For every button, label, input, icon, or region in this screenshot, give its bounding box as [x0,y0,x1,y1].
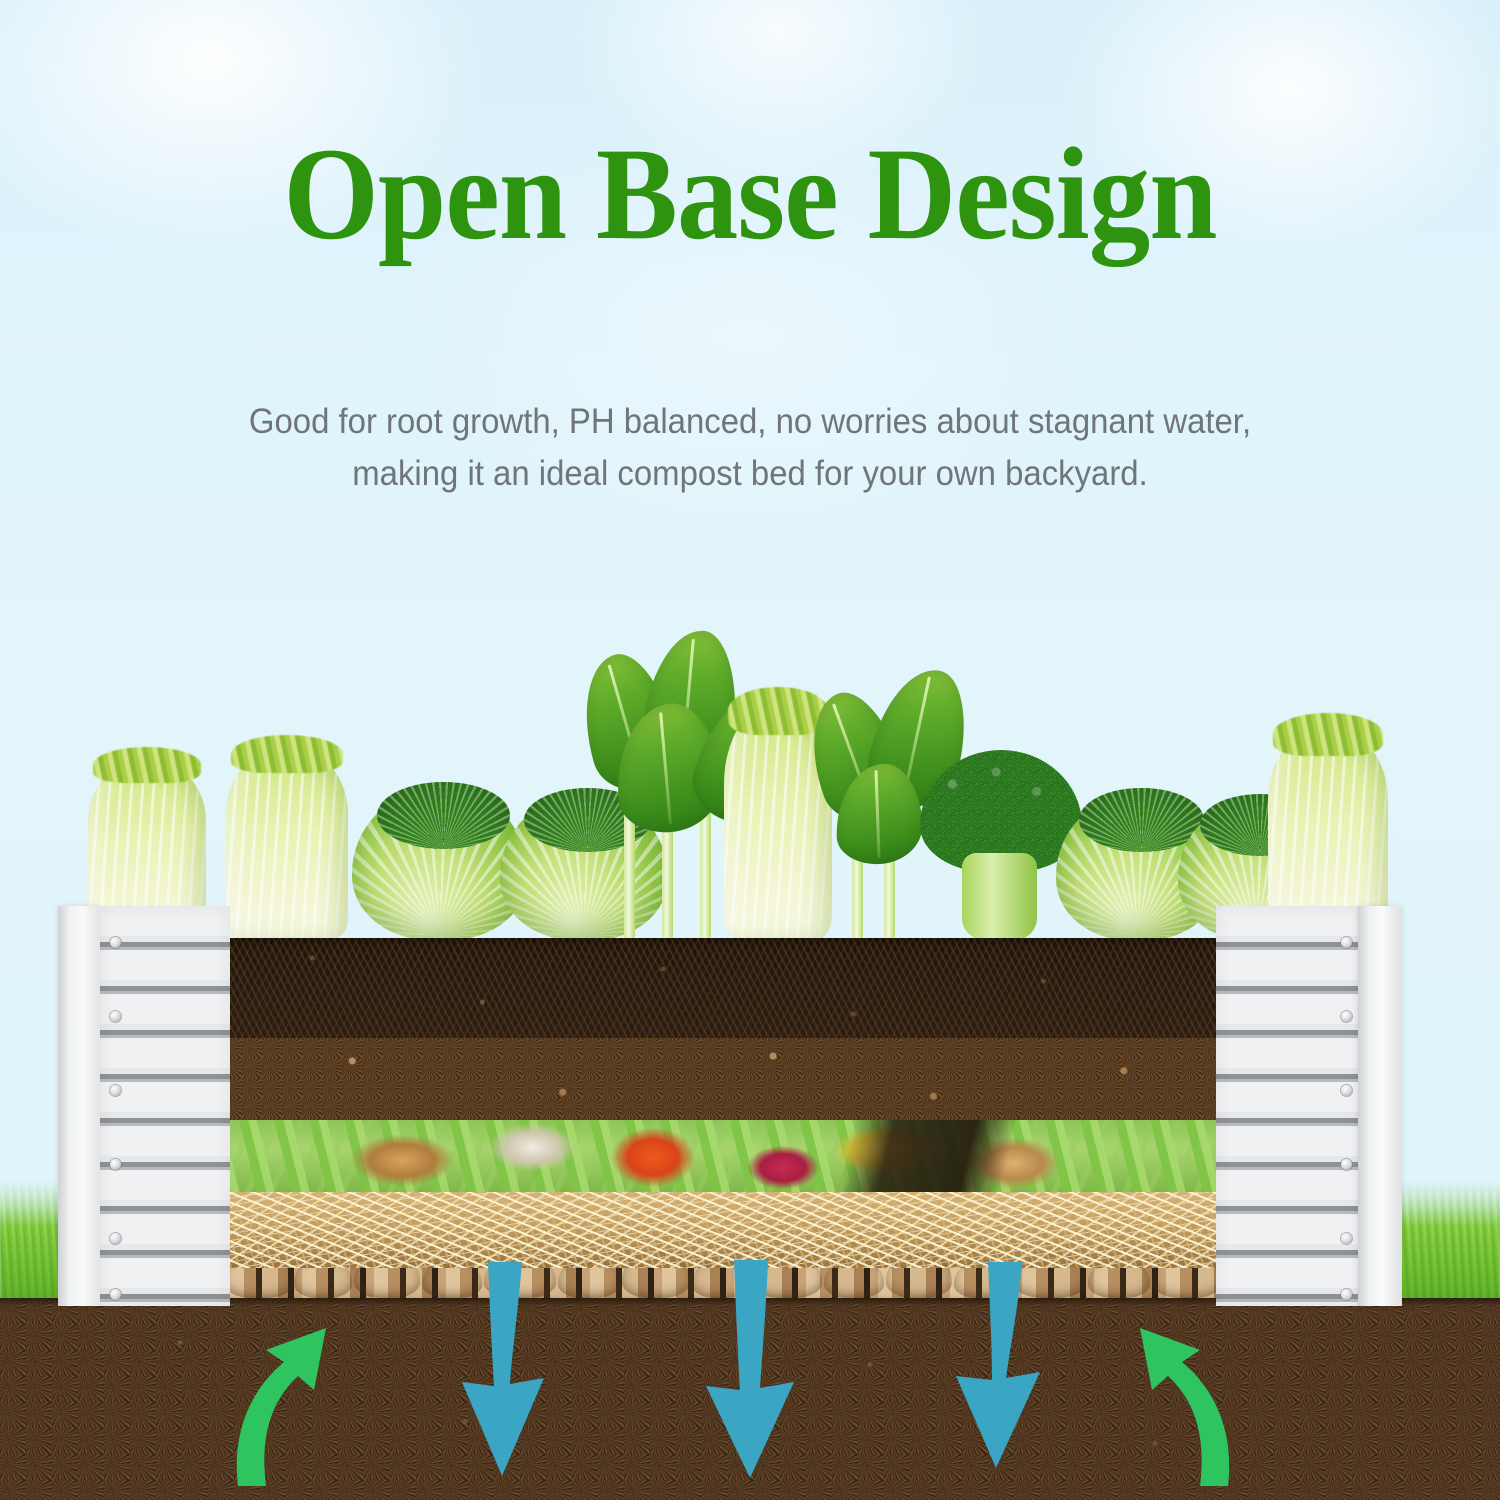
layer-dark-compost-soil [222,938,1224,1038]
panel-screw [1341,1159,1352,1170]
vegetable-row [0,618,1500,940]
panel-screw [110,1011,121,1022]
panel-screw [1341,1085,1352,1096]
airflow-up-arrow-icon [1126,1306,1244,1486]
panel-screw [110,1233,121,1244]
subtitle-line-2: making it an ideal compost bed for your … [45,448,1455,500]
panel-screw [110,1159,121,1170]
plant-napa-cabbage [226,748,348,940]
water-drain-down-arrow-icon [698,1260,802,1478]
water-drain-down-arrow-icon [452,1262,556,1476]
page-title: Open Base Design [53,128,1448,260]
corner-post [58,906,102,1306]
corrugated-slat-face [1216,906,1362,1306]
flow-arrow-group [0,1262,1500,1500]
panel-screw [1341,1011,1352,1022]
right-metal-side-panel[interactable] [1216,906,1402,1306]
page-subtitle: Good for root growth, PH balanced, no wo… [45,396,1455,500]
layer-kitchen-vegetable-scraps [222,1120,1224,1192]
broccoli-stem [962,853,1037,940]
panel-screw [110,1085,121,1096]
corner-post [1358,906,1402,1306]
corrugated-slat-face [100,906,230,1306]
airflow-up-arrow-icon [222,1306,340,1486]
bed-cross-section [222,938,1224,1298]
panel-screw [110,937,121,948]
plant-broccoli [920,750,1082,940]
water-drain-down-arrow-icon [948,1262,1052,1468]
panel-screw [1341,1233,1352,1244]
panel-screw [1341,937,1352,948]
infographic-canvas: Open Base Design Good for root growth, P… [0,0,1500,1500]
subtitle-line-1: Good for root growth, PH balanced, no wo… [45,396,1455,448]
left-metal-side-panel[interactable] [58,906,230,1306]
layer-brown-garden-soil [222,1038,1224,1120]
